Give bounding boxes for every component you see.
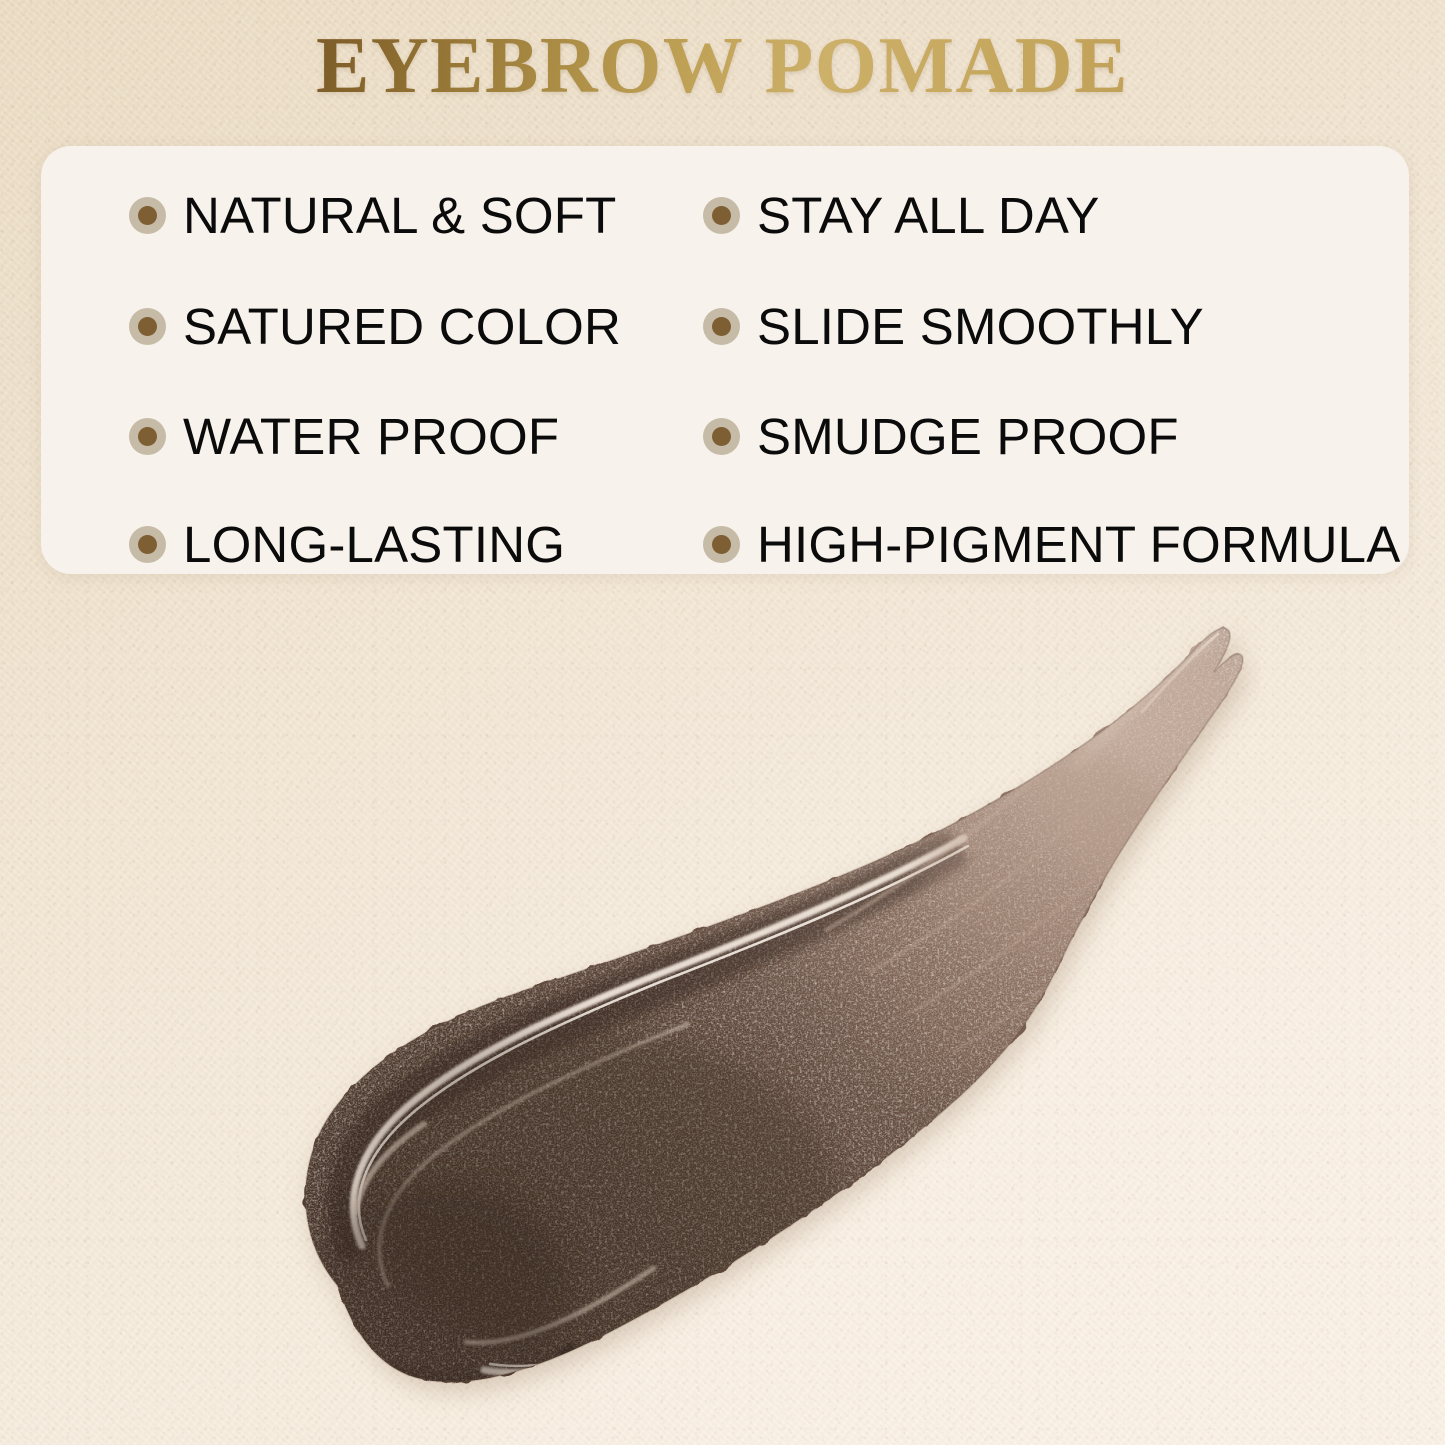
features-grid: NATURAL & SOFT STAY ALL DAY SATURED COLO… bbox=[41, 146, 1409, 574]
feature-item-water-proof: WATER PROOF bbox=[129, 404, 559, 468]
bullet-dot-icon bbox=[703, 197, 740, 234]
feature-item-long-lasting: LONG-LASTING bbox=[129, 512, 565, 576]
bullet-dot-icon bbox=[129, 197, 166, 234]
bullet-dot-icon bbox=[703, 526, 740, 563]
product-marketing-image: EYEBROW POMADE NATURAL & SOFT STAY ALL D… bbox=[0, 0, 1445, 1445]
bullet-dot-icon bbox=[703, 308, 740, 345]
product-swatch bbox=[270, 600, 1260, 1440]
feature-label: STAY ALL DAY bbox=[757, 190, 1100, 241]
feature-label: SATURED COLOR bbox=[183, 301, 621, 352]
feature-label: NATURAL & SOFT bbox=[183, 190, 617, 241]
features-card: NATURAL & SOFT STAY ALL DAY SATURED COLO… bbox=[41, 146, 1409, 574]
feature-label: LONG-LASTING bbox=[183, 519, 565, 570]
feature-item-natural-soft: NATURAL & SOFT bbox=[129, 183, 617, 247]
feature-label: HIGH-PIGMENT FORMULA bbox=[757, 519, 1400, 570]
feature-item-smudge-proof: SMUDGE PROOF bbox=[703, 404, 1179, 468]
feature-label: SLIDE SMOOTHLY bbox=[757, 301, 1204, 352]
feature-label: WATER PROOF bbox=[183, 411, 559, 462]
feature-item-satured-color: SATURED COLOR bbox=[129, 294, 621, 358]
bullet-dot-icon bbox=[129, 308, 166, 345]
feature-label: SMUDGE PROOF bbox=[757, 411, 1179, 462]
bullet-dot-icon bbox=[703, 418, 740, 455]
bullet-dot-icon bbox=[129, 418, 166, 455]
feature-item-stay-all-day: STAY ALL DAY bbox=[703, 183, 1100, 247]
bullet-dot-icon bbox=[129, 526, 166, 563]
pomade-smear-image bbox=[270, 600, 1260, 1440]
feature-item-high-pigment-formula: HIGH-PIGMENT FORMULA bbox=[703, 512, 1400, 576]
page-title: EYEBROW POMADE bbox=[0, 24, 1445, 108]
feature-item-slide-smoothly: SLIDE SMOOTHLY bbox=[703, 294, 1204, 358]
